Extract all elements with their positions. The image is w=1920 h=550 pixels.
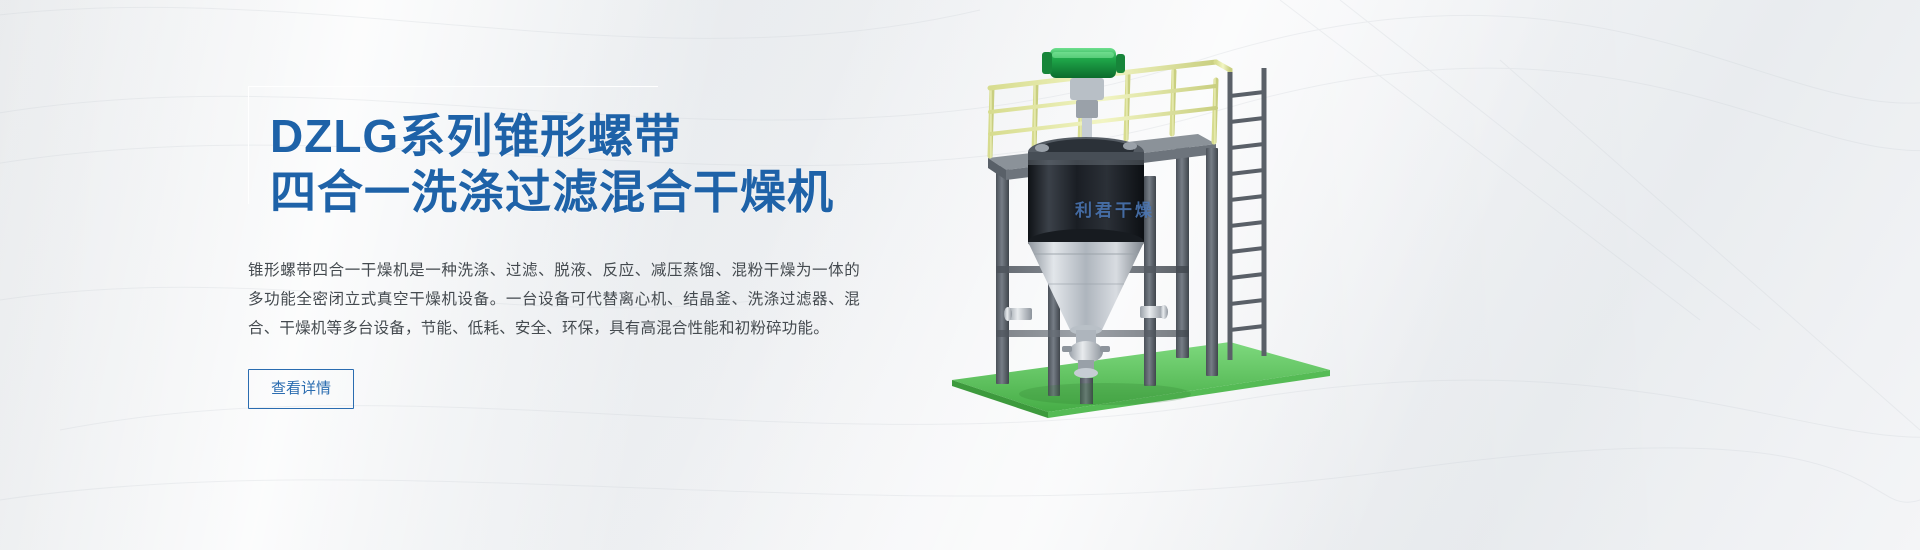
front-leg — [1206, 148, 1218, 376]
conical-section — [1028, 242, 1144, 335]
drive-motor — [1042, 48, 1125, 152]
view-details-button[interactable]: 查看详情 — [248, 369, 354, 409]
product-illustration — [930, 30, 1350, 430]
equipment-shadow — [1019, 383, 1191, 405]
access-ladder — [1230, 68, 1264, 360]
banner-content: DZLG系列锥形螺带 四合一洗涤过滤混合干燥机 锥形螺带四合一干燥机是一种洗涤、… — [248, 86, 888, 409]
banner-title-line-2: 四合一洗涤过滤混合干燥机 — [270, 164, 888, 220]
hero-banner: DZLG系列锥形螺带 四合一洗涤过滤混合干燥机 锥形螺带四合一干燥机是一种洗涤、… — [0, 0, 1920, 550]
product-watermark: 利君干燥 — [1075, 196, 1155, 221]
banner-title-line-1: DZLG系列锥形螺带 — [270, 108, 888, 164]
banner-description: 锥形螺带四合一干燥机是一种洗涤、过滤、脱液、反应、减压蒸馏、混粉干燥为一体的多功… — [248, 256, 860, 343]
title-frame: DZLG系列锥形螺带 四合一洗涤过滤混合干燥机 — [248, 86, 888, 234]
